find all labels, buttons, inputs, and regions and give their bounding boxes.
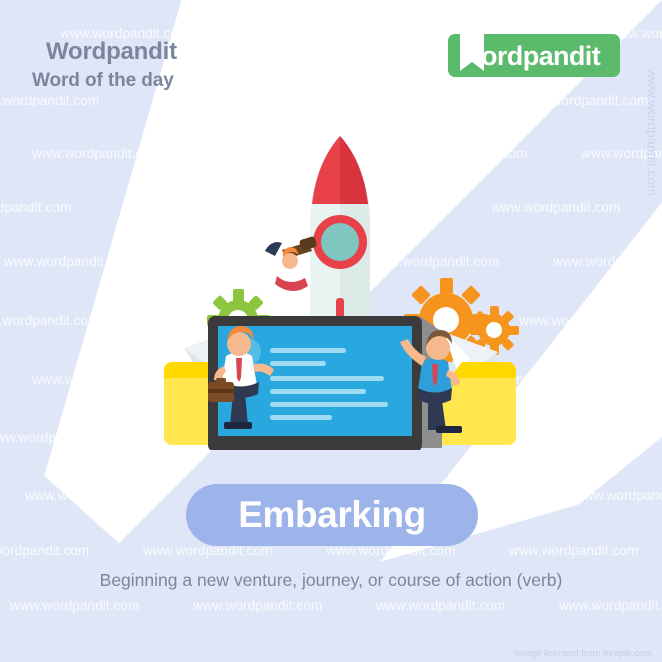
- rocket-porthole: [313, 215, 367, 269]
- word-of-the-day: Embarking: [238, 494, 426, 536]
- word-pill: Embarking: [186, 484, 478, 546]
- logo-label: ordpandit: [481, 41, 600, 72]
- rocket-launch-illustration: [150, 130, 530, 450]
- word-definition: Beginning a new venture, journey, or cou…: [0, 570, 662, 591]
- word-of-the-day-card: www.wordpandit.com www.wordpandit.com ww…: [0, 0, 662, 662]
- astronaut-with-telescope: [265, 236, 317, 291]
- page-subtitle: Word of the day: [32, 70, 174, 92]
- image-credit: Image licensed from freepik.com: [515, 648, 652, 659]
- wordpandit-logo[interactable]: ordpandit: [448, 34, 620, 77]
- page-title: Wordpandit: [46, 38, 177, 66]
